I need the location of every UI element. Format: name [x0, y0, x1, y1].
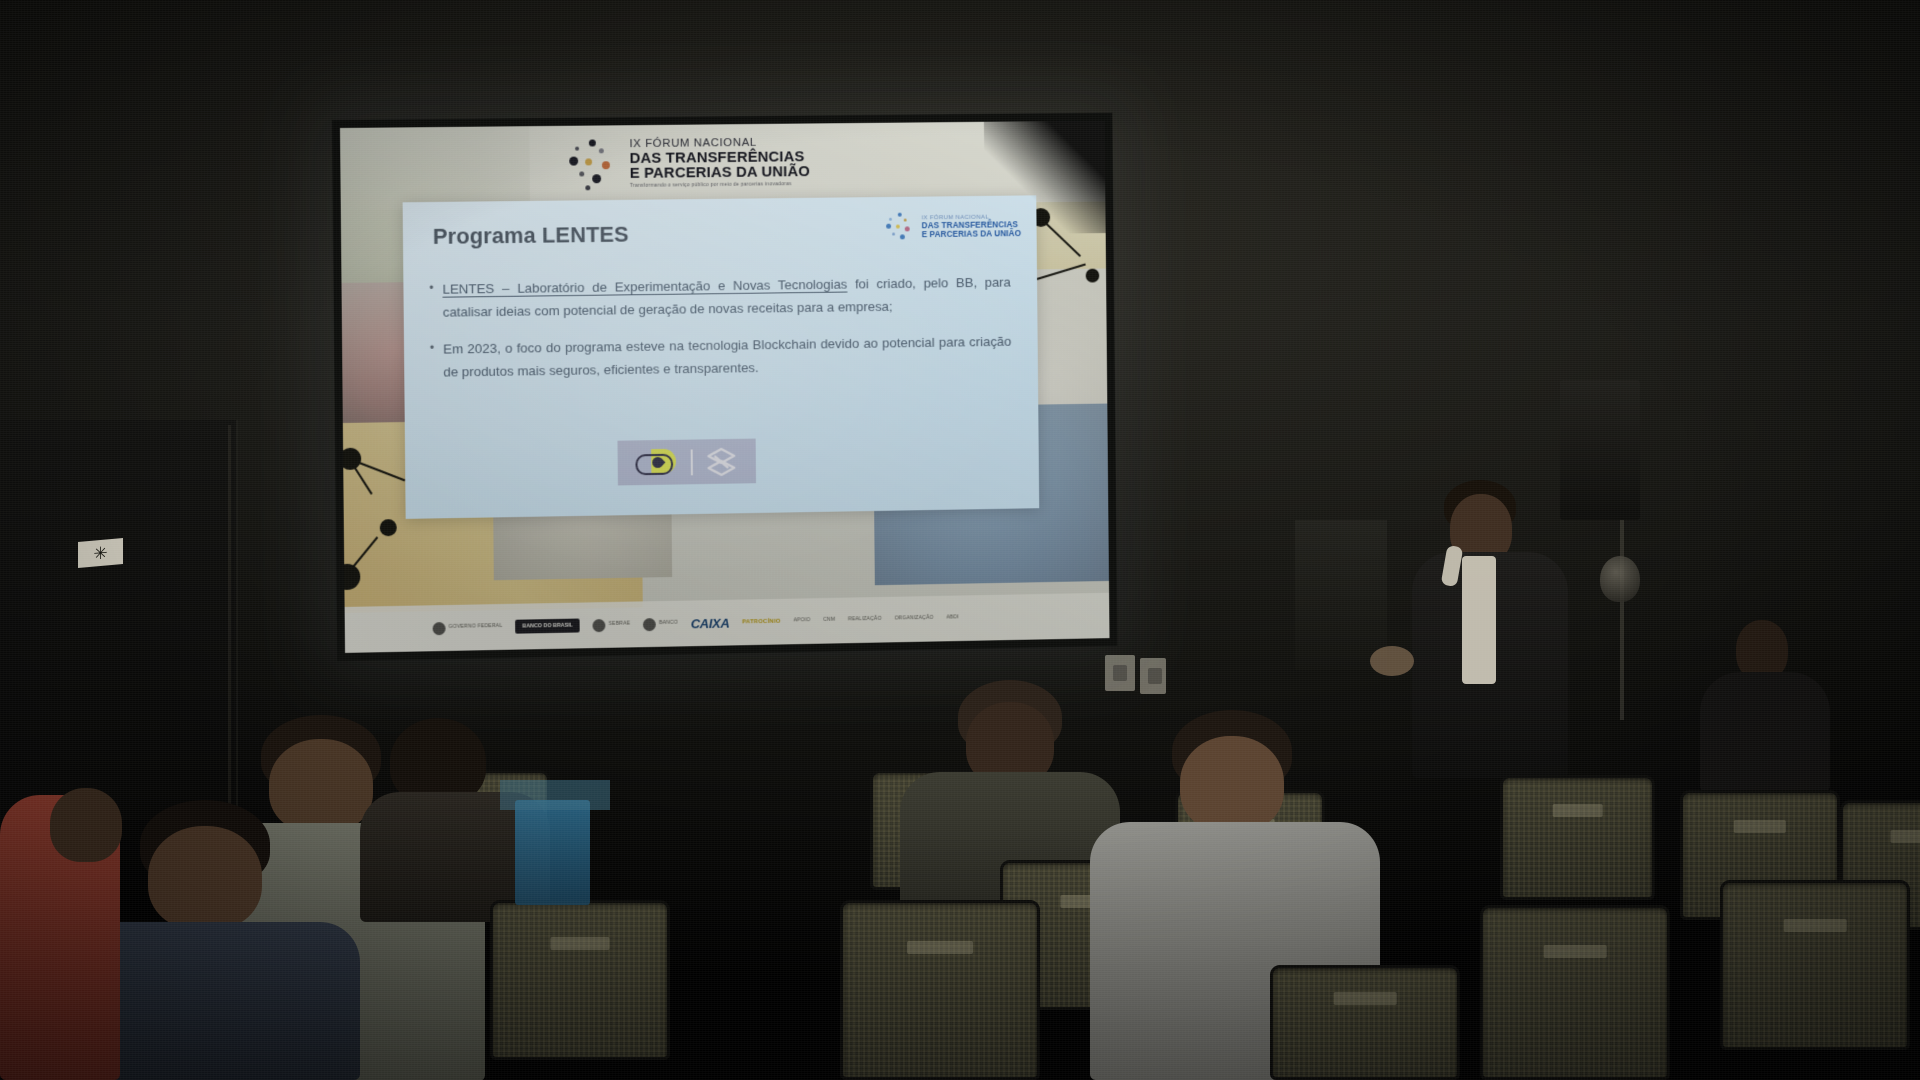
speaker-shirt [1462, 556, 1496, 684]
sponsor-logo: SEBRAE [593, 618, 631, 632]
event-logo-card-text: IX FÓRUM NACIONAL DAS TRANSFERÊNCIAS E P… [922, 214, 1022, 239]
event-logo-text: IX FÓRUM NACIONAL DAS TRANSFERÊNCIAS E P… [629, 137, 810, 189]
sponsor-logo: ORGANIZAÇÃO [894, 616, 933, 623]
bullet-item: • Em 2023, o foco do programa esteve na … [430, 330, 1012, 384]
speaker-hand [1370, 646, 1414, 676]
sponsor-logo: APOIO [793, 618, 810, 624]
logo-tagline: Transformando o serviço público por meio… [630, 182, 810, 189]
chair [1480, 905, 1670, 1080]
logo-divider [691, 449, 693, 475]
chair [1270, 965, 1460, 1080]
sponsor-logo: CNM [823, 618, 835, 624]
auditorium-scene: ✳ [0, 0, 1920, 1080]
bullet-marker: • [430, 338, 435, 384]
slide: IX FÓRUM NACIONAL DAS TRANSFERÊNCIAS E P… [340, 121, 1110, 653]
chair [490, 900, 670, 1060]
bullet-item: • LENTES – Laboratório de Experimentação… [429, 271, 1011, 324]
lentes-logo-icon [636, 450, 680, 475]
brazil-map-dots-icon-small [881, 211, 917, 245]
card-logo-line-3: E PARCERIAS DA UNIÃO [922, 229, 1021, 239]
lentes-bb-logo-pair [617, 439, 756, 486]
mic-stand [1620, 520, 1624, 720]
laptop-screen [515, 800, 590, 905]
chair [840, 900, 1040, 1080]
speaker-presenter [1400, 480, 1580, 780]
right-wall-panel [1295, 520, 1387, 670]
projection-screen: IX FÓRUM NACIONAL DAS TRANSFERÊNCIAS E P… [340, 121, 1110, 653]
bullet-underlined-lead: LENTES – Laboratório de Experimentação e… [442, 277, 847, 297]
sponsor-logo: REALIZAÇÃO [848, 617, 882, 624]
sponsor-logo: PATROCÍNIO [742, 619, 781, 626]
logo-line-3: E PARCERIAS DA UNIÃO [630, 165, 810, 182]
sponsor-logo: BANCO DO BRASIL [515, 619, 580, 634]
sponsor-logo: BANCO [643, 617, 678, 631]
attendee [40, 788, 170, 908]
chair [1500, 775, 1655, 900]
slide-title: Programa LENTES [433, 222, 629, 250]
bullet-text: Em 2023, o foco do programa esteve na te… [443, 330, 1012, 384]
wall-outlet-right [1140, 658, 1166, 694]
event-logo-card: IX FÓRUM NACIONAL DAS TRANSFERÊNCIAS E P… [881, 209, 1021, 244]
sponsor-logo: GOVERNO FEDERAL [433, 620, 503, 634]
stage-lamp [1600, 556, 1640, 602]
attendee-standing-right [1700, 620, 1830, 790]
sponsor-logo: ABDI [946, 615, 958, 621]
monitor-top [500, 780, 610, 810]
door-sign: ✳ [78, 538, 123, 568]
bullet-marker: • [429, 278, 434, 324]
event-logo-header: IX FÓRUM NACIONAL DAS TRANSFERÊNCIAS E P… [561, 133, 810, 193]
slide-bullet-list: • LENTES – Laboratório de Experimentação… [429, 271, 1012, 398]
chair [1720, 880, 1910, 1050]
banco-do-brasil-logo-icon [704, 446, 738, 476]
slide-content-card: Programa LENTES IX FÓRUM NACIONAL [403, 195, 1040, 519]
sponsor-logo-caixa: CAIXA [691, 615, 730, 631]
bullet-text: LENTES – Laboratório de Experimentação e… [442, 271, 1011, 324]
brazil-map-dots-icon [561, 135, 621, 193]
